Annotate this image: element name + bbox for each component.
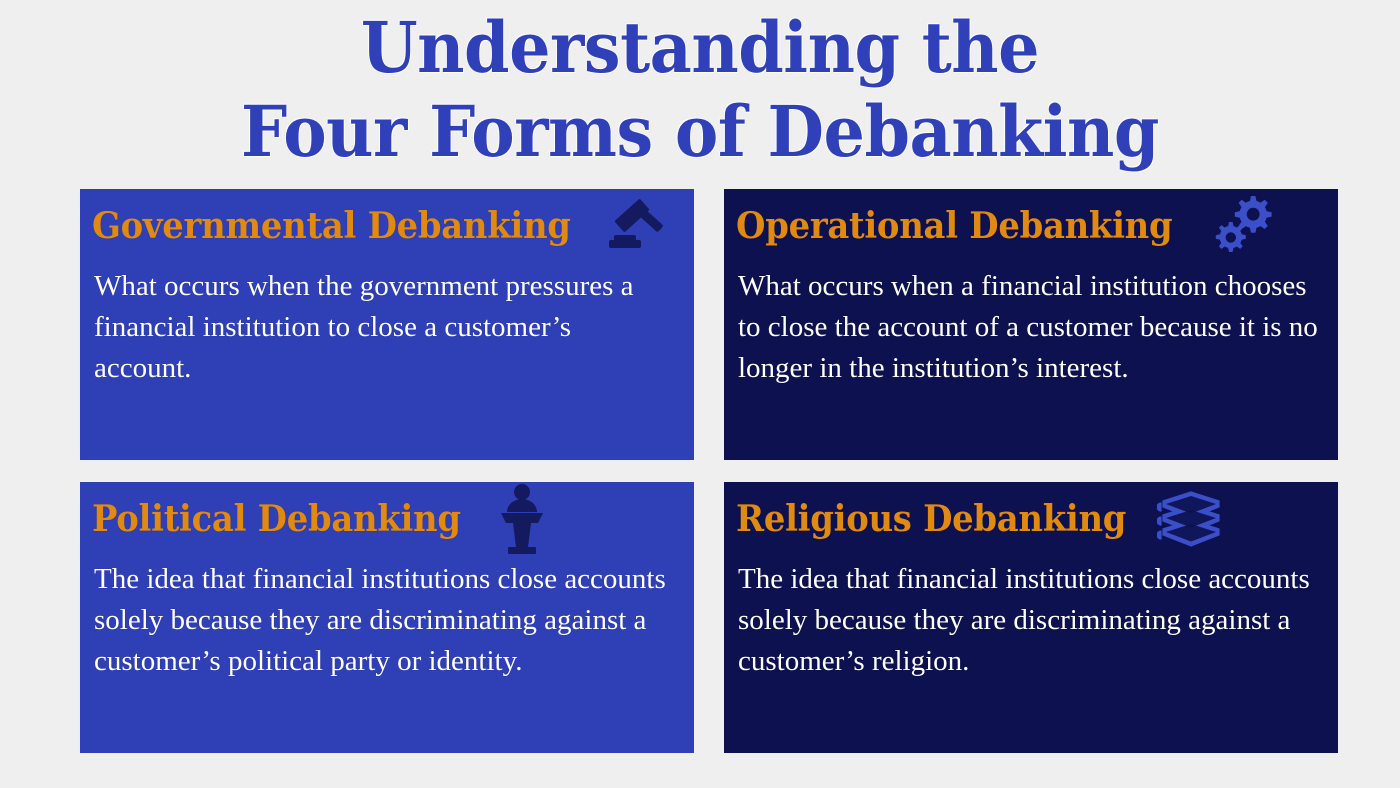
card-header: Political Debanking <box>92 495 678 547</box>
gears-icon <box>1210 194 1276 261</box>
card-header: Governmental Debanking <box>92 202 678 254</box>
card-religious-debanking: Religious Debanking <box>724 482 1338 753</box>
card-operational-debanking: Operational Debanking What occurs when a <box>724 189 1338 460</box>
book-stack-icon <box>1157 485 1227 556</box>
card-title-political: Political Debanking <box>92 495 461 543</box>
card-political-debanking: Political Debanking <box>80 482 694 753</box>
page-title-line-1: Understanding the <box>49 6 1351 90</box>
card-title-religious: Religious Debanking <box>736 495 1126 543</box>
card-body-operational: What occurs when a financial institution… <box>736 266 1322 389</box>
infographic-slide: Understanding the Four Forms of Debankin… <box>0 0 1400 788</box>
card-header: Operational Debanking <box>736 202 1322 254</box>
card-body-political: The idea that financial institutions clo… <box>92 559 678 682</box>
card-title-governmental: Governmental Debanking <box>92 202 571 250</box>
card-title-operational: Operational Debanking <box>736 202 1172 250</box>
debanking-card-grid: Governmental Debanking Wh <box>80 189 1338 754</box>
card-governmental-debanking: Governmental Debanking Wh <box>80 189 694 460</box>
page-title: Understanding the Four Forms of Debankin… <box>0 6 1400 174</box>
page-title-line-2: Four Forms of Debanking <box>49 90 1351 174</box>
card-body-governmental: What occurs when the government pressure… <box>92 266 678 389</box>
card-header: Religious Debanking <box>736 495 1322 547</box>
podium-speaker-icon <box>498 483 546 562</box>
card-body-religious: The idea that financial institutions clo… <box>736 559 1322 682</box>
gavel-icon <box>607 196 669 259</box>
